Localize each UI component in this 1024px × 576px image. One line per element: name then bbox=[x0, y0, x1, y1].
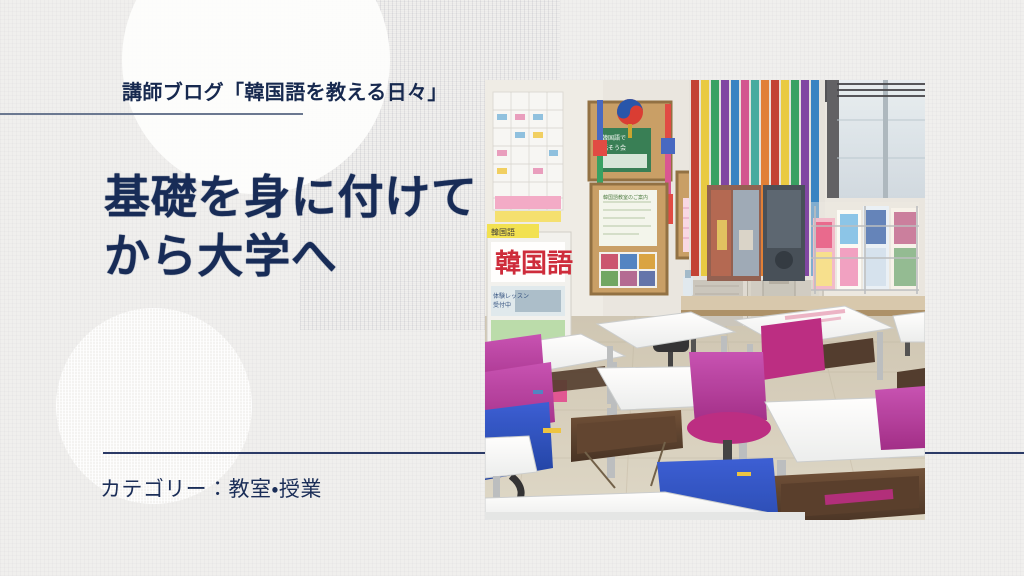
page-title: 基礎を身に付けて から大学へ bbox=[104, 168, 478, 286]
blog-series-label: 講師ブログ「韓国語を教える日々」 bbox=[122, 76, 448, 105]
slide-canvas: 講師ブログ「韓国語を教える日々」 基礎を身に付けて から大学へ カテゴリー：教室… bbox=[0, 0, 1024, 576]
classroom-photo: 韓国語 韓国語 体験レッスン 受付中 韓国語で 話そう会 bbox=[485, 80, 925, 520]
divider-rule-top bbox=[0, 113, 303, 115]
category-label: カテゴリー：教室・授業 bbox=[100, 473, 322, 503]
